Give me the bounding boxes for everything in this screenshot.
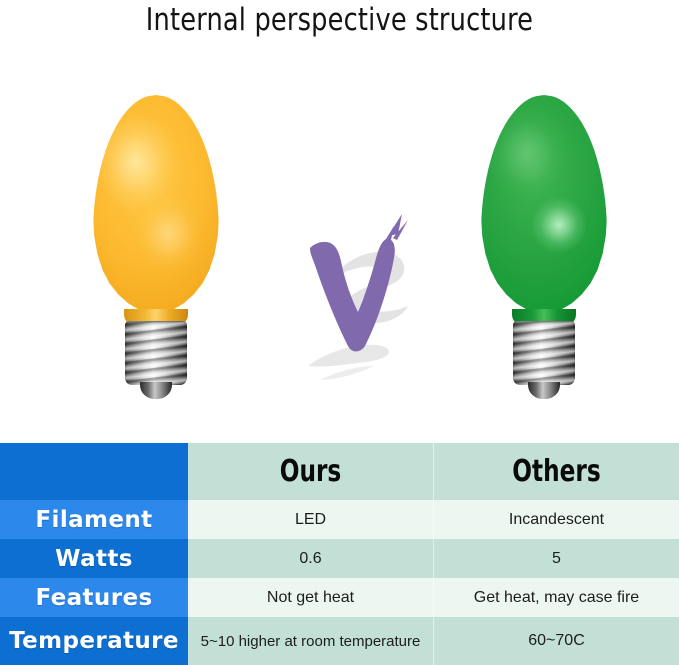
vs-icon <box>290 196 410 396</box>
vs-s-tail <box>308 345 389 367</box>
cell-ours-temperature: 5~10 higher at room temperature <box>188 617 434 665</box>
header-ours-label: Ours <box>205 454 416 489</box>
table-row: Watts 0.6 5 <box>0 539 679 578</box>
hero-bulb-comparison <box>0 44 679 443</box>
bulb-screw-base-green <box>513 321 575 385</box>
vs-v-stroke <box>310 226 395 351</box>
table-row: Features Not get heat Get heat, may case… <box>0 578 679 617</box>
cell-others-filament: Incandescent <box>434 500 679 539</box>
table-row: Filament LED Incandescent <box>0 500 679 539</box>
vs-brush-mark <box>290 196 410 396</box>
header-others-label: Others <box>451 454 662 489</box>
page-title: Internal perspective structure <box>27 0 652 44</box>
comparison-table: Ours Others Filament LED Incandescent Wa… <box>0 443 679 665</box>
cell-ours-filament: LED <box>188 500 434 539</box>
header-label-cell <box>0 443 188 500</box>
row-label-filament: Filament <box>0 500 188 539</box>
row-label-features: Features <box>0 578 188 617</box>
bulb-glass-green <box>481 95 607 319</box>
bulb-glass-orange <box>93 95 219 319</box>
header-others-cell: Others <box>434 443 679 500</box>
cell-ours-features: Not get heat <box>188 578 434 617</box>
cell-ours-watts: 0.6 <box>188 539 434 578</box>
product-comparison-infographic: Internal perspective structure <box>0 0 679 665</box>
bulb-screw-base-orange <box>125 321 187 385</box>
cell-others-temperature: 60~70C <box>434 617 679 665</box>
green-incandescent-bulb <box>481 95 607 401</box>
table-header-row: Ours Others <box>0 443 679 500</box>
cell-others-features: Get heat, may case fire <box>434 578 679 617</box>
row-label-temperature: Temperature <box>0 617 188 665</box>
orange-led-bulb <box>93 95 219 401</box>
header-ours-cell: Ours <box>188 443 434 500</box>
cell-others-watts: 5 <box>434 539 679 578</box>
row-label-watts: Watts <box>0 539 188 578</box>
bulb-contact-tip-green <box>528 382 560 399</box>
vs-s-tail2 <box>320 366 374 380</box>
bulb-contact-tip-orange <box>140 382 172 399</box>
table-row: Temperature 5~10 higher at room temperat… <box>0 617 679 665</box>
